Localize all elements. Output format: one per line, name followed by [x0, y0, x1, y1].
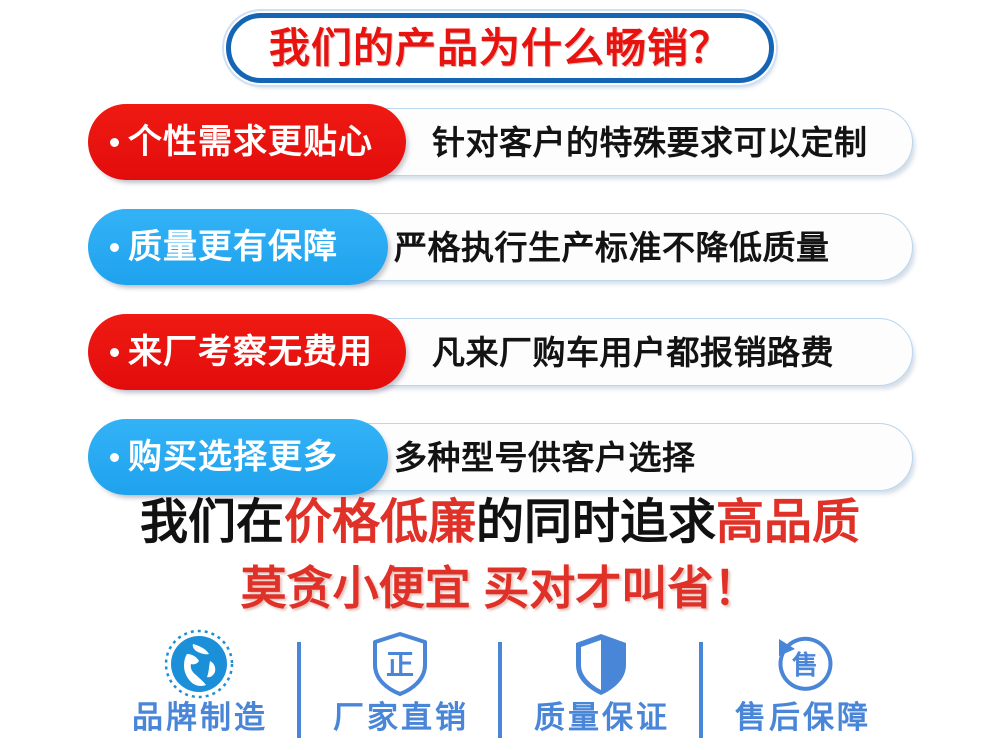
trust-badge-bar: 品牌制造 正 厂家直销 质量保证 售	[100, 628, 900, 750]
feature-pill-label: 质量更有保障	[128, 230, 338, 264]
tagline-secondary: 莫贪小便宜 买对才叫省！	[0, 563, 1000, 614]
badge-factory-direct: 正 厂家直销	[301, 628, 498, 733]
badge-label: 售后保障	[732, 702, 871, 733]
title-capsule: 我们的产品为什么畅销？	[226, 13, 774, 83]
feature-pill-label: 个性需求更贴心	[128, 125, 373, 159]
badge-quality-guarantee: 质量保证	[502, 628, 699, 733]
bullet-dot-icon	[110, 243, 119, 252]
badge-label: 质量保证	[531, 702, 670, 733]
feature-row: 个性需求更贴心 针对客户的特殊要求可以定制	[0, 104, 1000, 180]
badge-brand-manufacturing: 品牌制造	[100, 628, 297, 733]
feature-row: 购买选择更多 多种型号供客户选择	[0, 419, 1000, 495]
feature-pill-2: 质量更有保障	[88, 209, 388, 285]
shield-glyph: 正	[385, 649, 413, 680]
badge-label: 品牌制造	[129, 702, 268, 733]
feature-description: 严格执行生产标准不降低质量	[394, 209, 830, 285]
feature-description: 凡来厂购车用户都报销路费	[432, 314, 834, 390]
bullet-dot-icon	[110, 453, 119, 462]
tagline-primary: 我们在价格低廉的同时追求高品质	[0, 497, 1000, 550]
tagline-highlight-1: 价格低廉	[284, 496, 476, 549]
feature-row: 质量更有保障 严格执行生产标准不降低质量	[0, 209, 1000, 285]
feature-description: 针对客户的特殊要求可以定制	[432, 104, 868, 180]
feature-pill-label: 购买选择更多	[128, 440, 338, 474]
tagline-part-1: 我们在	[140, 496, 284, 549]
feature-pill-label: 来厂考察无费用	[128, 335, 373, 369]
bullet-dot-icon	[110, 348, 119, 357]
refresh-shou-icon: 售	[767, 628, 837, 700]
page-title-banner: 我们的产品为什么畅销？	[0, 6, 1000, 90]
globe-icon	[163, 628, 235, 700]
refresh-glyph: 售	[791, 650, 817, 680]
shield-zheng-icon: 正	[367, 628, 433, 700]
feature-list: 个性需求更贴心 针对客户的特殊要求可以定制 质量更有保障 严格执行生产标准不降低…	[0, 104, 1000, 524]
feature-pill-4: 购买选择更多	[88, 419, 388, 495]
tagline-part-2: 的同时追求	[476, 496, 716, 549]
page-title: 我们的产品为什么畅销？	[269, 28, 731, 69]
tagline-highlight-2: 高品质	[716, 496, 860, 549]
feature-pill-3: 来厂考察无费用	[88, 314, 406, 390]
bullet-dot-icon	[110, 138, 119, 147]
feature-pill-1: 个性需求更贴心	[88, 104, 406, 180]
feature-description: 多种型号供客户选择	[394, 419, 696, 495]
feature-row: 来厂考察无费用 凡来厂购车用户都报销路费	[0, 314, 1000, 390]
badge-label: 厂家直销	[330, 702, 469, 733]
badge-after-sales: 售 售后保障	[703, 628, 900, 733]
shield-icon	[568, 628, 634, 700]
